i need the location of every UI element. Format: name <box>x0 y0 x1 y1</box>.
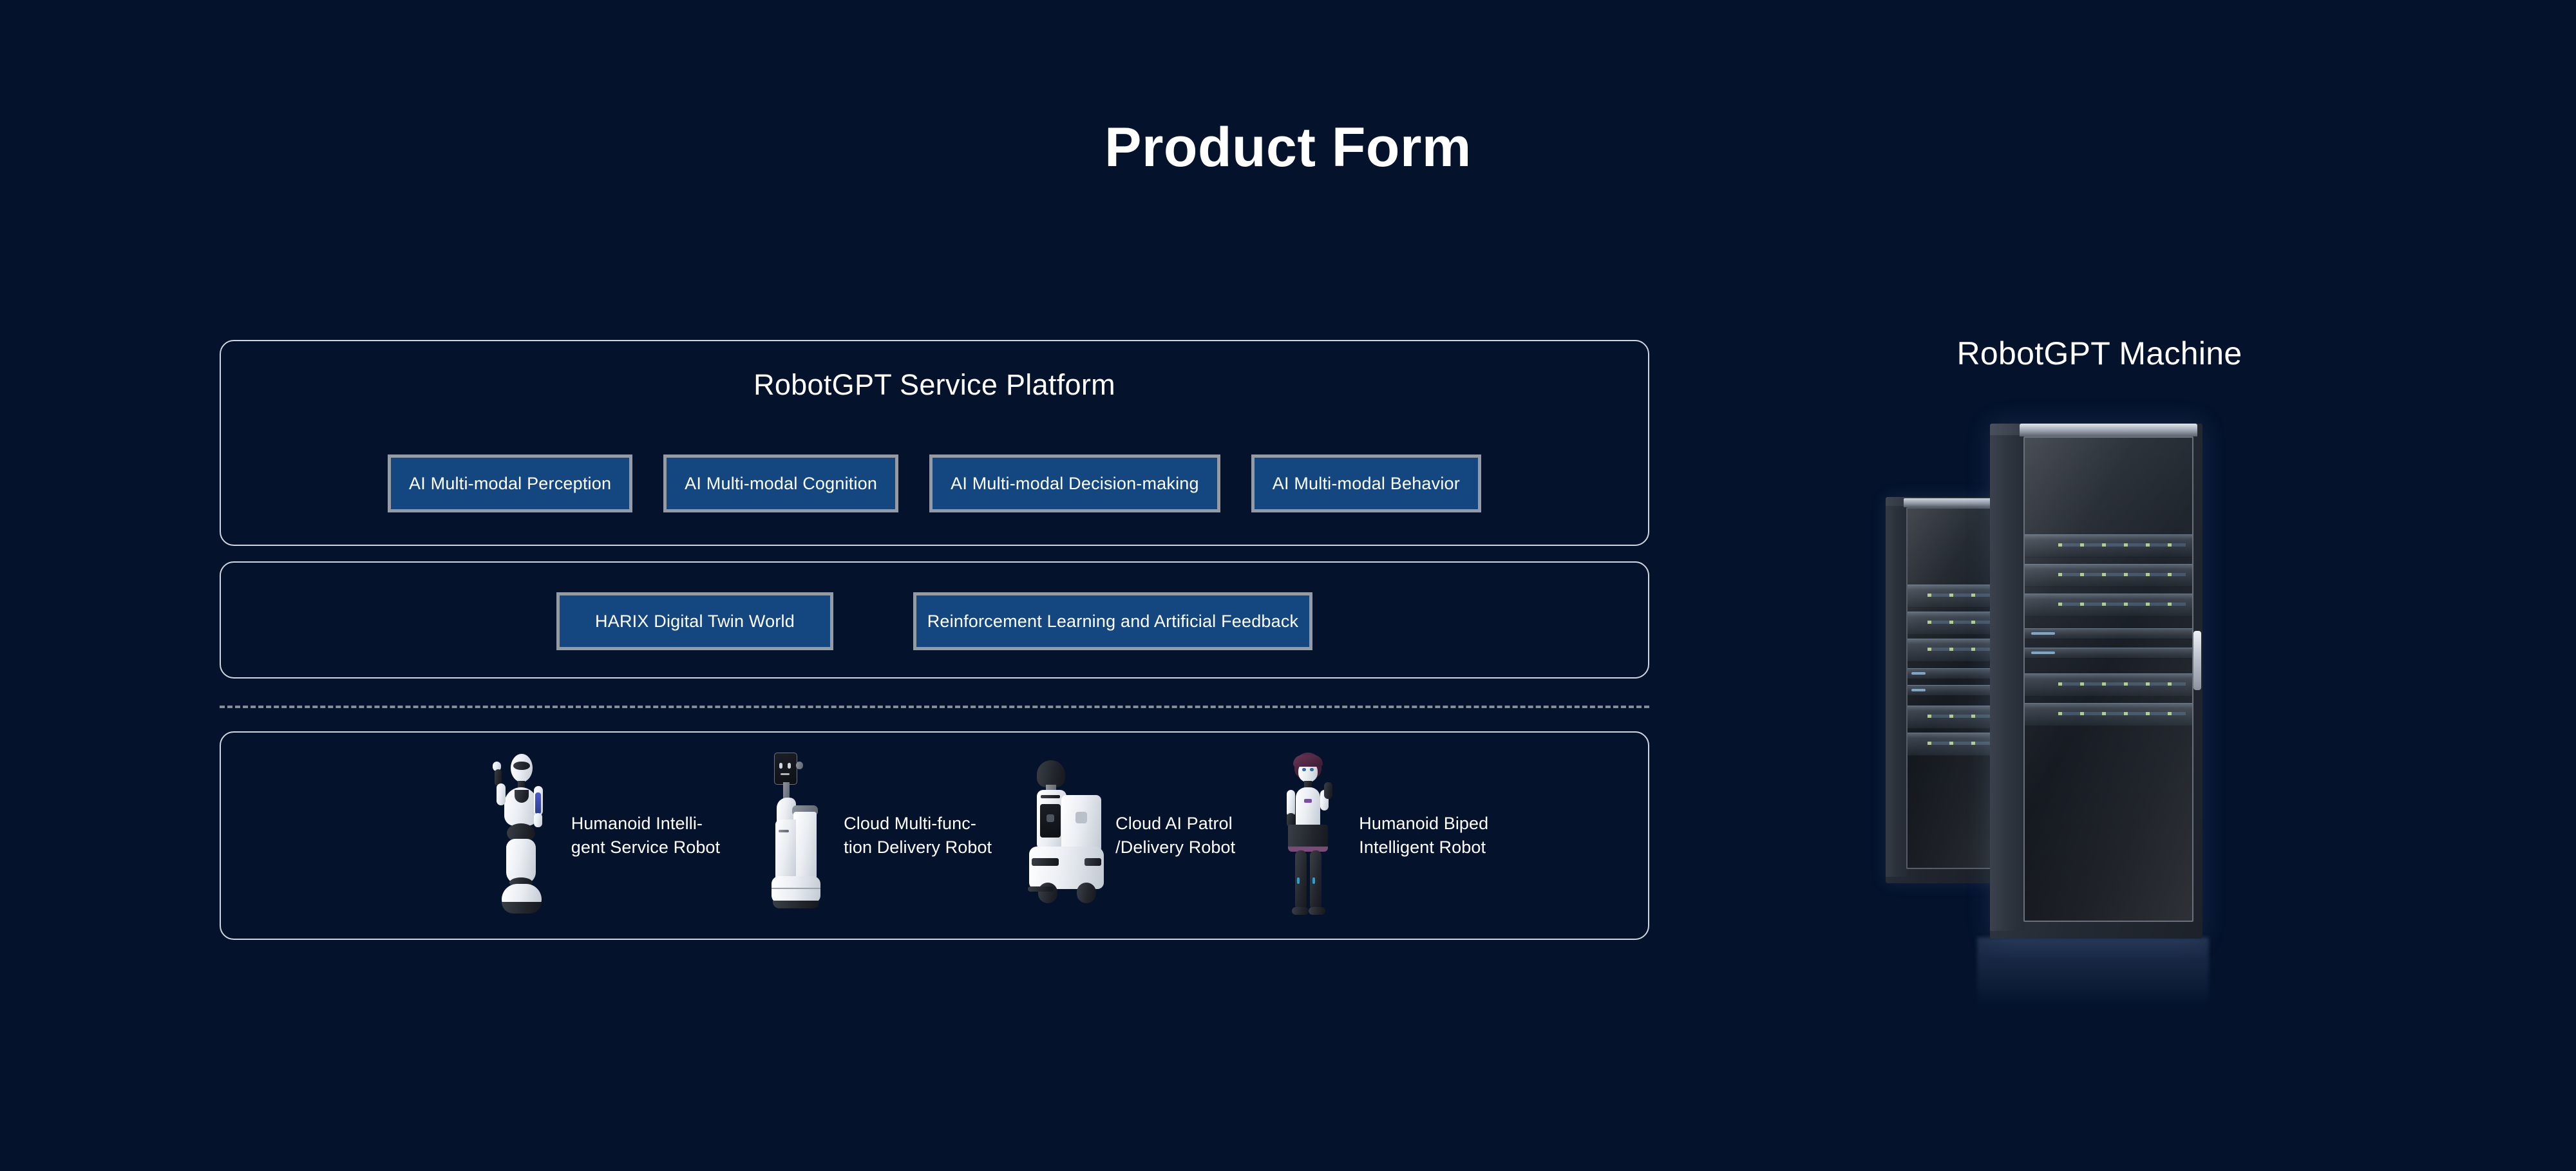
server-rack-primary <box>1990 424 2202 939</box>
machine-title: RobotGPT Machine <box>1855 335 2344 372</box>
capability-chip-label: AI Multi-modal Perception <box>409 473 611 494</box>
foundation-chip-reinforcement-learning[interactable]: Reinforcement Learning and Artificial Fe… <box>913 592 1312 650</box>
foundation-chip-label: HARIX Digital Twin World <box>595 611 795 632</box>
machine-block: RobotGPT Machine <box>1855 335 2344 372</box>
capability-chip-row: AI Multi-modal Perception AI Multi-modal… <box>221 454 1648 512</box>
robot-list-item[interactable]: Cloud AI Patrol /Delivery Robot <box>1021 750 1235 921</box>
page-title: Product Form <box>0 116 2576 180</box>
foundation-chip-label: Reinforcement Learning and Artificial Fe… <box>927 611 1299 632</box>
capability-chip-label: AI Multi-modal Behavior <box>1273 473 1460 494</box>
capability-chip[interactable]: AI Multi-modal Decision-making <box>929 454 1220 512</box>
capability-chip[interactable]: AI Multi-modal Behavior <box>1251 454 1481 512</box>
delivery-robot-icon <box>750 750 837 921</box>
server-rack-icon <box>1880 418 2280 1062</box>
humanoid-service-robot-icon <box>477 750 565 921</box>
service-platform-panel: RobotGPT Service Platform AI Multi-modal… <box>220 340 1649 546</box>
section-divider <box>220 706 1649 708</box>
robot-list-item[interactable]: Cloud Multi-func- tion Delivery Robot <box>750 750 992 921</box>
robot-list-item[interactable]: Humanoid Biped Intelligent Robot <box>1265 750 1488 921</box>
platform-stack: RobotGPT Service Platform AI Multi-modal… <box>220 340 1649 940</box>
capability-chip-label: AI Multi-modal Cognition <box>685 473 877 494</box>
service-platform-title: RobotGPT Service Platform <box>221 368 1648 402</box>
robot-label: Humanoid Biped Intelligent Robot <box>1359 812 1488 860</box>
robot-products-panel: Humanoid Intelli- gent Service Robot <box>220 731 1649 940</box>
biped-humanoid-robot-icon <box>1265 750 1352 921</box>
foundation-chip-digital-twin[interactable]: HARIX Digital Twin World <box>556 592 833 650</box>
robot-label: Humanoid Intelli- gent Service Robot <box>571 812 720 860</box>
robot-list-item[interactable]: Humanoid Intelli- gent Service Robot <box>477 750 720 921</box>
capability-chip[interactable]: AI Multi-modal Cognition <box>663 454 898 512</box>
patrol-robot-icon <box>1021 750 1109 921</box>
robot-label: Cloud Multi-func- tion Delivery Robot <box>844 812 992 860</box>
rack-door-handle[interactable] <box>2193 631 2201 690</box>
robot-list: Humanoid Intelli- gent Service Robot <box>221 733 1648 939</box>
rack-reflection <box>1977 937 2209 1008</box>
foundation-chip-row: HARIX Digital Twin World Reinforcement L… <box>221 592 1648 650</box>
robot-label: Cloud AI Patrol /Delivery Robot <box>1115 812 1235 860</box>
foundation-panel: HARIX Digital Twin World Reinforcement L… <box>220 561 1649 679</box>
capability-chip-label: AI Multi-modal Decision-making <box>951 473 1199 494</box>
capability-chip[interactable]: AI Multi-modal Perception <box>388 454 632 512</box>
